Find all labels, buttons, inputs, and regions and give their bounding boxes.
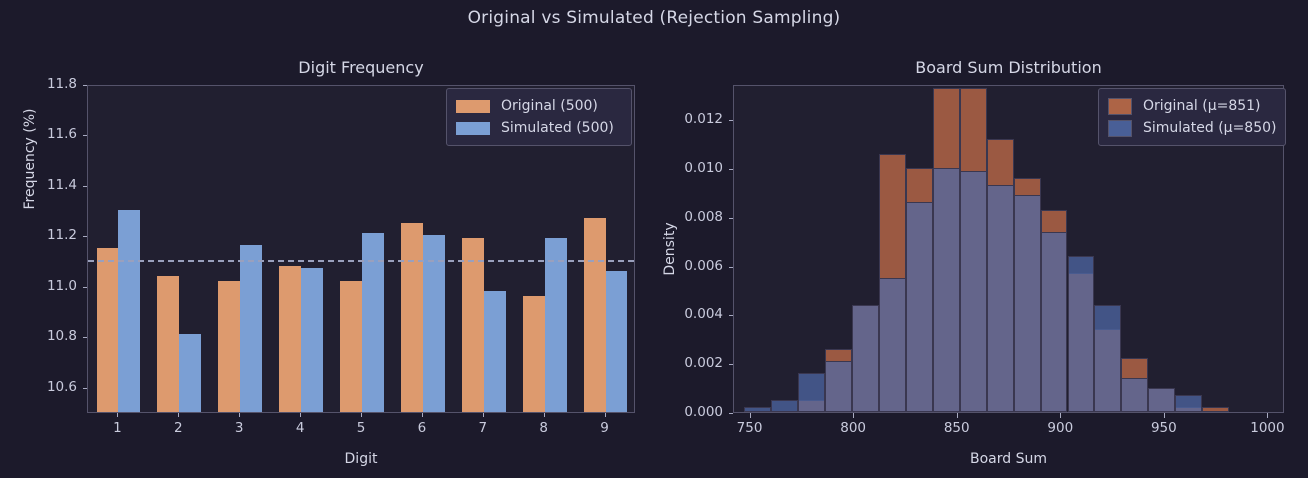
right-x-tickmark bbox=[957, 413, 958, 418]
bar-original-digit-5 bbox=[340, 281, 362, 412]
hist-bar-simulated-bin-11 bbox=[1041, 232, 1068, 412]
right-y-tickmark bbox=[729, 364, 733, 365]
left-x-tickmark bbox=[300, 413, 301, 417]
right-x-tick-950: 950 bbox=[1134, 420, 1194, 436]
left-y-tick-11.6: 11.6 bbox=[25, 126, 77, 142]
bar-simulated-digit-2 bbox=[179, 334, 201, 412]
right-y-tickmark bbox=[729, 413, 733, 414]
bar-original-digit-6 bbox=[401, 223, 423, 412]
left-x-axis-label: Digit bbox=[87, 451, 635, 467]
right-y-tick-0.000: 0.000 bbox=[663, 404, 723, 420]
bar-original-digit-7 bbox=[462, 238, 484, 412]
hist-bar-original-bin-17 bbox=[1202, 407, 1229, 412]
left-x-tickmark bbox=[483, 413, 484, 417]
left-chart-title: Digit Frequency bbox=[87, 58, 635, 77]
left-x-tick-4: 4 bbox=[280, 420, 320, 436]
bar-original-digit-1 bbox=[97, 248, 119, 412]
bar-simulated-digit-4 bbox=[301, 268, 323, 412]
left-x-tick-3: 3 bbox=[219, 420, 259, 436]
left-x-tick-1: 1 bbox=[97, 420, 137, 436]
hist-bar-simulated-bin-9 bbox=[987, 185, 1014, 412]
left-y-tickmark bbox=[83, 388, 87, 389]
left-chart-legend[interactable]: Original (500)Simulated (500) bbox=[446, 88, 632, 146]
left-y-tick-11.4: 11.4 bbox=[25, 177, 77, 193]
legend-item-simulated[interactable]: Simulated (μ=850) bbox=[1108, 117, 1276, 139]
right-x-tick-900: 900 bbox=[1030, 420, 1090, 436]
hist-bar-simulated-bin-2 bbox=[798, 373, 825, 412]
hist-bar-simulated-bin-13 bbox=[1094, 305, 1121, 412]
hist-bar-simulated-bin-15 bbox=[1148, 388, 1175, 412]
right-x-axis-label: Board Sum bbox=[733, 451, 1284, 467]
left-x-tick-5: 5 bbox=[341, 420, 381, 436]
left-y-tickmark bbox=[83, 337, 87, 338]
legend-label: Simulated (500) bbox=[501, 120, 614, 136]
right-y-tick-0.012: 0.012 bbox=[663, 111, 723, 127]
right-y-tickmark bbox=[729, 267, 733, 268]
right-x-tickmark bbox=[750, 413, 751, 418]
figure-suptitle: Original vs Simulated (Rejection Samplin… bbox=[0, 8, 1308, 28]
right-y-tickmark bbox=[729, 315, 733, 316]
legend-item-original[interactable]: Original (500) bbox=[456, 95, 622, 117]
left-y-tick-11.2: 11.2 bbox=[25, 227, 77, 243]
left-y-tick-11.0: 11.0 bbox=[25, 278, 77, 294]
left-y-tickmark bbox=[83, 85, 87, 86]
legend-swatch-simulated bbox=[1108, 120, 1132, 137]
right-x-tick-750: 750 bbox=[720, 420, 780, 436]
left-x-tick-6: 6 bbox=[402, 420, 442, 436]
bar-simulated-digit-8 bbox=[545, 238, 567, 412]
hist-bar-simulated-bin-3 bbox=[825, 361, 852, 412]
left-y-tickmark bbox=[83, 287, 87, 288]
right-y-tickmark bbox=[729, 120, 733, 121]
right-y-tick-0.010: 0.010 bbox=[663, 160, 723, 176]
right-y-tick-0.004: 0.004 bbox=[663, 306, 723, 322]
hist-bar-simulated-bin-6 bbox=[906, 202, 933, 412]
bar-original-digit-2 bbox=[157, 276, 179, 412]
bar-original-digit-9 bbox=[584, 218, 606, 412]
left-y-tickmark bbox=[83, 236, 87, 237]
bar-simulated-digit-3 bbox=[240, 245, 262, 412]
hist-bar-simulated-bin-14 bbox=[1121, 378, 1148, 412]
right-x-tickmark bbox=[1267, 413, 1268, 418]
left-y-tick-11.8: 11.8 bbox=[25, 76, 77, 92]
bar-simulated-digit-1 bbox=[118, 210, 140, 412]
right-y-tickmark bbox=[729, 169, 733, 170]
hist-bar-simulated-bin-7 bbox=[933, 168, 960, 412]
bar-simulated-digit-7 bbox=[484, 291, 506, 412]
legend-label: Original (500) bbox=[501, 98, 598, 114]
bar-original-digit-3 bbox=[218, 281, 240, 412]
hist-bar-simulated-bin-0 bbox=[744, 407, 771, 412]
right-x-tick-1000: 1000 bbox=[1237, 420, 1297, 436]
left-x-tick-8: 8 bbox=[524, 420, 564, 436]
right-x-tick-850: 850 bbox=[927, 420, 987, 436]
right-y-tick-0.002: 0.002 bbox=[663, 355, 723, 371]
right-chart-legend[interactable]: Original (μ=851)Simulated (μ=850) bbox=[1098, 88, 1286, 146]
hist-bar-simulated-bin-5 bbox=[879, 278, 906, 412]
hist-bar-simulated-bin-4 bbox=[852, 305, 879, 412]
right-x-tickmark bbox=[853, 413, 854, 418]
bar-original-digit-8 bbox=[523, 296, 545, 412]
left-x-tickmark bbox=[422, 413, 423, 417]
legend-item-original[interactable]: Original (μ=851) bbox=[1108, 95, 1276, 117]
left-x-tickmark bbox=[239, 413, 240, 417]
left-x-tickmark bbox=[361, 413, 362, 417]
left-x-tickmark bbox=[178, 413, 179, 417]
legend-label: Simulated (μ=850) bbox=[1143, 120, 1276, 136]
left-x-tick-2: 2 bbox=[158, 420, 198, 436]
hist-bar-simulated-bin-12 bbox=[1068, 256, 1095, 412]
right-x-tickmark bbox=[1060, 413, 1061, 418]
right-y-tickmark bbox=[729, 218, 733, 219]
expected-frequency-line bbox=[88, 260, 634, 262]
legend-swatch-original bbox=[456, 100, 490, 113]
legend-label: Original (μ=851) bbox=[1143, 98, 1261, 114]
left-x-tickmark bbox=[117, 413, 118, 417]
right-y-tick-0.008: 0.008 bbox=[663, 209, 723, 225]
left-y-tick-10.8: 10.8 bbox=[25, 328, 77, 344]
bar-simulated-digit-9 bbox=[606, 271, 628, 412]
left-y-tickmark bbox=[83, 135, 87, 136]
left-y-tick-10.6: 10.6 bbox=[25, 379, 77, 395]
right-x-tickmark bbox=[1164, 413, 1165, 418]
left-x-tick-7: 7 bbox=[463, 420, 503, 436]
right-chart-title: Board Sum Distribution bbox=[733, 58, 1284, 77]
figure-canvas: Original vs Simulated (Rejection Samplin… bbox=[0, 0, 1308, 478]
hist-bar-simulated-bin-1 bbox=[771, 400, 798, 412]
right-y-tick-0.006: 0.006 bbox=[663, 258, 723, 274]
right-x-tick-800: 800 bbox=[823, 420, 883, 436]
left-y-tickmark bbox=[83, 186, 87, 187]
legend-swatch-original bbox=[1108, 98, 1132, 115]
left-x-tick-9: 9 bbox=[585, 420, 625, 436]
hist-bar-simulated-bin-16 bbox=[1175, 395, 1202, 412]
left-x-tickmark bbox=[544, 413, 545, 417]
bar-original-digit-4 bbox=[279, 266, 301, 412]
hist-bar-simulated-bin-10 bbox=[1014, 195, 1041, 412]
left-y-axis-label: Frequency (%) bbox=[22, 69, 38, 249]
hist-bar-simulated-bin-8 bbox=[960, 171, 987, 412]
left-x-tickmark bbox=[605, 413, 606, 417]
legend-swatch-simulated bbox=[456, 122, 490, 135]
legend-item-simulated[interactable]: Simulated (500) bbox=[456, 117, 622, 139]
